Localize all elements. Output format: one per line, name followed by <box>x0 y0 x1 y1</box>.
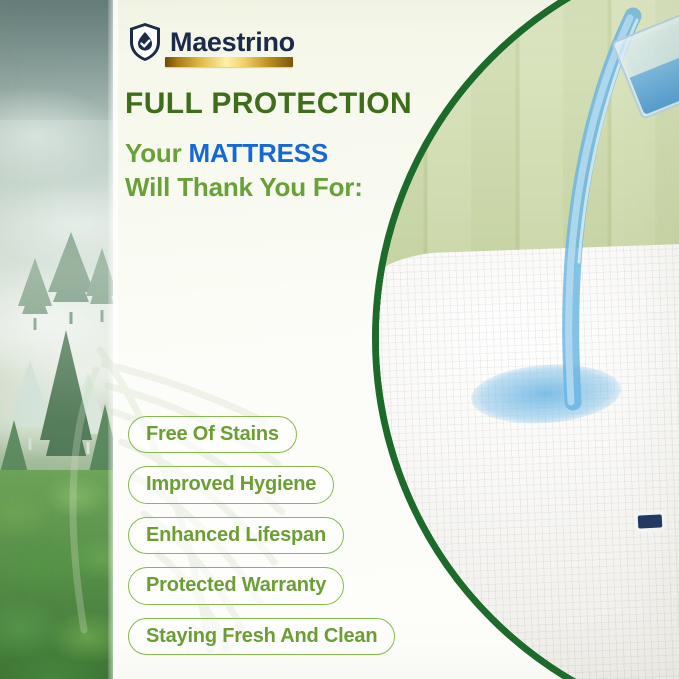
brand-logo: Maestrino <box>128 22 295 62</box>
benefit-pill-improved-hygiene[interactable]: Improved Hygiene <box>128 466 334 503</box>
forest-photo-panel <box>0 0 113 679</box>
bedroom-scene-photo <box>379 0 679 679</box>
benefit-pill-staying-fresh-and-clean[interactable]: Staying Fresh And Clean <box>128 618 395 655</box>
forest-panel-fade-edge <box>108 0 118 679</box>
benefit-list: Free Of Stains Improved Hygiene Enhanced… <box>128 416 395 655</box>
subheadline-prefix: Your <box>125 138 189 168</box>
benefit-pill-enhanced-lifespan[interactable]: Enhanced Lifespan <box>128 517 344 554</box>
brand-wordmark: Maestrino <box>170 29 295 56</box>
shield-water-drop-check-icon <box>128 22 162 62</box>
product-marketing-image: Maestrino FULL PROTECTION Your MATTRESS … <box>0 0 679 679</box>
subheadline-line3: Will Thank You For: <box>125 171 363 205</box>
page-title: FULL PROTECTION <box>125 89 412 119</box>
benefit-pill-free-of-stains[interactable]: Free Of Stains <box>128 416 297 453</box>
forest-atmosphere-veil <box>0 0 113 679</box>
subheadline-highlight: MATTRESS <box>189 138 328 168</box>
benefit-pill-protected-warranty[interactable]: Protected Warranty <box>128 567 344 604</box>
pitcher-water <box>630 34 679 115</box>
brand-label-tag <box>638 514 663 528</box>
subheadline: Your MATTRESS Will Thank You For: <box>125 137 363 205</box>
gold-accent-bar <box>165 57 293 67</box>
product-photo-circle <box>372 0 679 679</box>
